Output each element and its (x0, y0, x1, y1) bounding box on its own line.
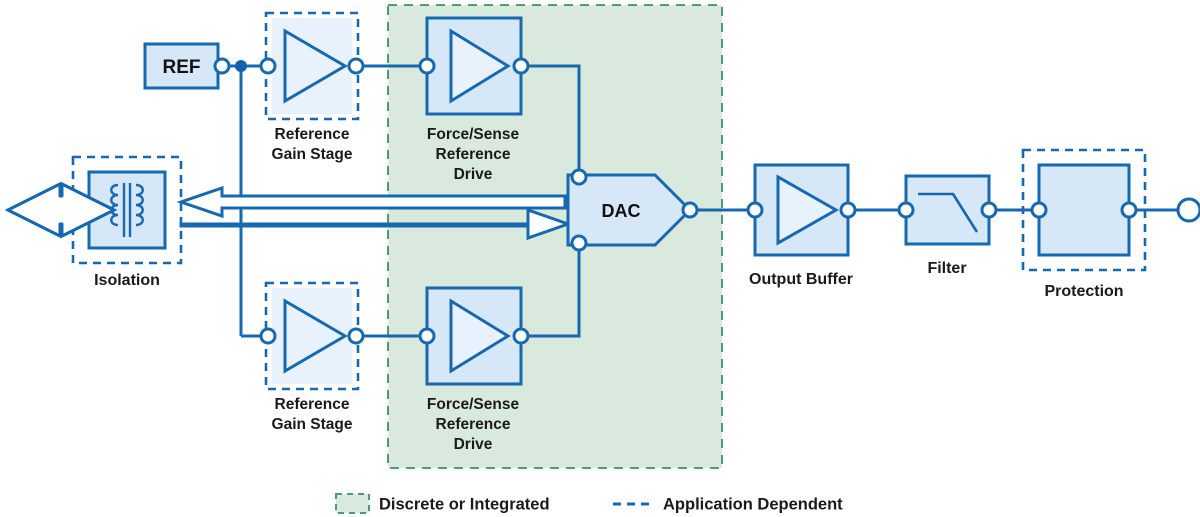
reference-gain-stage-top-label-line1: Reference (275, 126, 350, 143)
node-gain-top-in (261, 59, 275, 73)
reference-gain-stage-bottom-label-line1: Reference (275, 396, 350, 413)
filter-block[interactable] (906, 176, 989, 244)
filter-label: Filter (927, 260, 966, 277)
node-gain-top-out (349, 59, 363, 73)
reference-gain-stage-bottom-label-line2: Gain Stage (272, 416, 353, 433)
block-diagram-canvas: Isolation REF Reference Gain Stage Refer… (0, 0, 1200, 517)
node-gain-bottom-out (349, 329, 363, 343)
signal-chain-diagram: Isolation REF Reference Gain Stage Refer… (0, 0, 1200, 517)
node-fs-bottom-out (514, 329, 528, 343)
force-sense-reference-drive-top-label-line3: Drive (454, 166, 493, 183)
force-sense-reference-drive-bottom-label-line1: Force/Sense (427, 396, 520, 413)
dac-label: DAC (602, 201, 641, 221)
node-dac-ref-bottom (572, 236, 586, 250)
node-filter-out (982, 203, 996, 217)
output-buffer-label: Output Buffer (749, 271, 853, 288)
ref-label: REF (163, 57, 201, 78)
force-sense-reference-drive-top-label-line1: Force/Sense (427, 126, 520, 143)
node-fs-bottom-in (420, 329, 434, 343)
reference-gain-stage-top-label-line2: Gain Stage (272, 146, 353, 163)
force-sense-reference-drive-bottom-label-line3: Drive (454, 436, 493, 453)
isolation-label: Isolation (94, 272, 160, 289)
node-protection-out (1122, 203, 1136, 217)
node-fs-top-in (420, 59, 434, 73)
node-dac-out (683, 203, 697, 217)
legend-label-discrete-or-integrated: Discrete or Integrated (379, 495, 550, 513)
node-dac-ref-top (572, 170, 586, 184)
node-protection-in (1032, 203, 1046, 217)
node-ref-out (215, 59, 229, 73)
legend-label-application-dependent: Application Dependent (663, 495, 843, 513)
legend: Discrete or Integrated Application Depen… (336, 494, 843, 513)
node-output-buffer-out (841, 203, 855, 217)
junction-dot-ref (235, 60, 247, 72)
force-sense-reference-drive-top-label-line2: Reference (436, 146, 511, 163)
legend-swatch-discrete-or-integrated (336, 494, 369, 513)
force-sense-reference-drive-bottom-label-line2: Reference (436, 416, 511, 433)
node-filter-in (899, 203, 913, 217)
node-output-buffer-in (748, 203, 762, 217)
node-fs-top-out (514, 59, 528, 73)
protection-label: Protection (1044, 283, 1123, 300)
node-gain-bottom-in (261, 329, 275, 343)
protection-block[interactable] (1039, 165, 1129, 255)
node-output-terminal (1178, 199, 1200, 221)
